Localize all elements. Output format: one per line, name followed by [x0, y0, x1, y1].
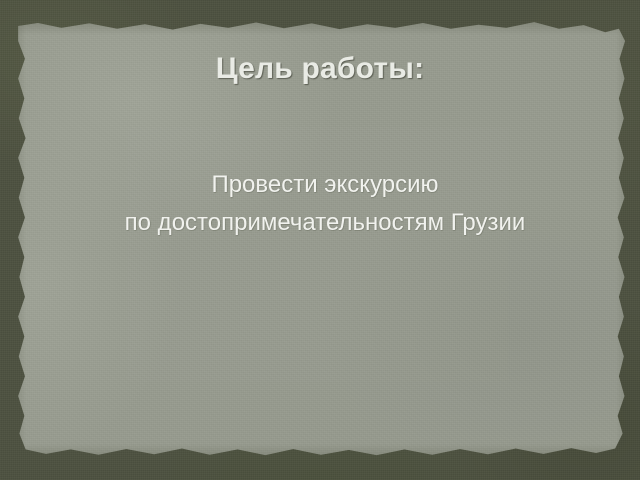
body-line-1: Провести экскурсию — [14, 166, 636, 204]
presentation-slide: Цель работы: Провести экскурсию по досто… — [0, 0, 640, 480]
slide-title: Цель работы: — [0, 52, 640, 86]
slide-body-text: Провести экскурсию по достопримечательно… — [14, 166, 636, 242]
slide-content: Цель работы: Провести экскурсию по досто… — [0, 0, 640, 480]
body-line-2: по достопримечательностям Грузии — [14, 204, 636, 242]
